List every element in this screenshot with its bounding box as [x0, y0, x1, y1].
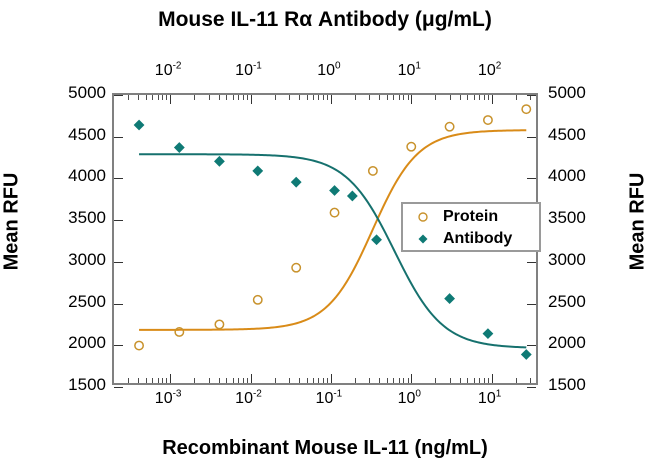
x-tick-bottom-major	[492, 374, 493, 383]
y-tick-label-right: 2500	[548, 292, 608, 312]
filled-diamond-icon	[403, 233, 443, 245]
x-tick-top-minor	[435, 95, 436, 100]
x-tick-top-minor	[488, 95, 489, 100]
x-tick-label-top: 100	[317, 62, 340, 80]
x-tick-bottom-minor	[313, 378, 314, 383]
x-tick-top-minor	[393, 95, 394, 100]
x-tick-bottom-minor	[318, 378, 319, 383]
x-tick-top-minor	[219, 95, 220, 100]
y-tick-label-right: 4000	[548, 166, 608, 186]
x-tick-top-minor	[474, 95, 475, 100]
right-y-axis-title: Mean RFU	[627, 162, 650, 282]
data-point-antibody	[444, 293, 455, 304]
x-tick-label-bottom: 10-2	[235, 390, 262, 408]
x-tick-top-minor	[138, 95, 139, 100]
x-tick-bottom-minor	[323, 378, 324, 383]
x-tick-bottom-minor	[530, 378, 531, 383]
x-tick-top-minor	[399, 95, 400, 100]
data-point-protein	[369, 167, 377, 175]
x-tick-top-major	[170, 95, 171, 104]
x-tick-bottom-minor	[158, 378, 159, 383]
x-tick-top-major	[331, 95, 332, 104]
x-tick-top-minor	[158, 95, 159, 100]
data-point-protein	[175, 328, 183, 336]
x-tick-bottom-minor	[403, 378, 404, 383]
x-tick-top-minor	[152, 95, 153, 100]
x-tick-top-major	[251, 95, 252, 104]
x-tick-bottom-minor	[233, 378, 234, 383]
data-point-antibody	[329, 185, 340, 196]
x-tick-top-minor	[226, 95, 227, 100]
top-axis-title: Mouse IL-11 Rα Antibody (μg/mL)	[0, 8, 650, 32]
y-tick-right	[527, 345, 536, 346]
data-point-protein	[330, 208, 338, 216]
y-tick-label-left: 3000	[48, 250, 106, 270]
x-tick-bottom-major	[411, 374, 412, 383]
data-point-antibody	[291, 177, 302, 188]
y-tick-label-left: 2000	[48, 333, 106, 353]
x-tick-top-minor	[313, 95, 314, 100]
x-tick-bottom-major	[170, 374, 171, 383]
x-tick-top-minor	[307, 95, 308, 100]
data-point-antibody	[252, 166, 263, 177]
y-tick-label-right: 3000	[548, 250, 608, 270]
x-tick-top-minor	[318, 95, 319, 100]
x-tick-bottom-minor	[460, 378, 461, 383]
y-tick-right	[527, 387, 536, 388]
y-tick-right	[527, 304, 536, 305]
x-tick-bottom-minor	[219, 378, 220, 383]
y-tick-label-right: 4500	[548, 125, 608, 145]
x-tick-bottom-minor	[516, 378, 517, 383]
x-tick-bottom-minor	[399, 378, 400, 383]
y-tick-label-left: 4500	[48, 125, 106, 145]
x-tick-bottom-minor	[226, 378, 227, 383]
data-point-protein	[445, 123, 453, 131]
y-tick-label-left: 4000	[48, 166, 106, 186]
x-tick-bottom-minor	[488, 378, 489, 383]
data-point-antibody	[521, 349, 532, 360]
x-tick-top-minor	[247, 95, 248, 100]
x-tick-top-minor	[369, 95, 370, 100]
x-tick-label-top: 102	[478, 62, 501, 80]
x-tick-top-minor	[162, 95, 163, 100]
x-tick-top-minor	[479, 95, 480, 100]
x-tick-bottom-minor	[238, 378, 239, 383]
x-tick-top-minor	[243, 95, 244, 100]
x-tick-bottom-minor	[327, 378, 328, 383]
x-tick-top-minor	[379, 95, 380, 100]
data-point-antibody	[214, 156, 225, 167]
y-tick-left	[114, 304, 123, 305]
data-point-protein	[215, 320, 223, 328]
x-tick-bottom-minor	[379, 378, 380, 383]
data-point-antibody	[371, 234, 382, 245]
x-tick-top-minor	[289, 95, 290, 100]
x-tick-top-minor	[166, 95, 167, 100]
y-tick-label-left: 5000	[48, 83, 106, 103]
x-tick-bottom-minor	[128, 378, 129, 383]
x-tick-bottom-minor	[162, 378, 163, 383]
chart-root: Mouse IL-11 Rα Antibody (μg/mL) Mean RFU…	[0, 0, 650, 476]
x-tick-top-minor	[209, 95, 210, 100]
y-tick-label-left: 3500	[48, 208, 106, 228]
x-tick-label-top: 101	[398, 62, 421, 80]
x-tick-top-minor	[484, 95, 485, 100]
x-tick-top-minor	[327, 95, 328, 100]
x-tick-bottom-minor	[275, 378, 276, 383]
x-tick-top-minor	[467, 95, 468, 100]
x-tick-top-minor	[233, 95, 234, 100]
data-point-antibody	[134, 120, 145, 131]
y-tick-left	[114, 345, 123, 346]
x-tick-bottom-minor	[209, 378, 210, 383]
x-tick-bottom-minor	[307, 378, 308, 383]
x-tick-label-bottom: 100	[398, 390, 421, 408]
y-tick-left	[114, 178, 123, 179]
y-tick-label-left: 1500	[48, 375, 106, 395]
x-tick-top-minor	[450, 95, 451, 100]
x-tick-bottom-minor	[387, 378, 388, 383]
x-tick-top-minor	[238, 95, 239, 100]
x-tick-bottom-minor	[138, 378, 139, 383]
x-tick-bottom-major	[251, 374, 252, 383]
data-point-protein	[135, 341, 143, 349]
y-tick-right	[527, 262, 536, 263]
left-y-axis-title: Mean RFU	[1, 162, 24, 282]
x-tick-label-bottom: 101	[478, 390, 501, 408]
y-tick-label-right: 2000	[548, 333, 608, 353]
x-tick-bottom-minor	[369, 378, 370, 383]
x-tick-bottom-minor	[408, 378, 409, 383]
x-tick-top-minor	[194, 95, 195, 100]
data-point-antibody	[483, 328, 494, 339]
x-tick-bottom-minor	[484, 378, 485, 383]
x-tick-top-minor	[403, 95, 404, 100]
x-tick-bottom-minor	[243, 378, 244, 383]
x-tick-top-major	[492, 95, 493, 104]
x-tick-top-minor	[516, 95, 517, 100]
data-point-protein	[522, 105, 530, 113]
y-tick-label-right: 3500	[548, 208, 608, 228]
x-tick-bottom-minor	[435, 378, 436, 383]
x-tick-label-top: 10-2	[155, 62, 182, 80]
x-tick-bottom-minor	[152, 378, 153, 383]
x-tick-bottom-minor	[166, 378, 167, 383]
data-point-protein	[292, 264, 300, 272]
x-tick-bottom-minor	[467, 378, 468, 383]
legend-item-antibody[interactable]: Antibody	[403, 227, 539, 250]
data-point-antibody	[174, 142, 185, 153]
x-tick-bottom-minor	[393, 378, 394, 383]
x-tick-bottom-minor	[450, 378, 451, 383]
y-tick-left	[114, 262, 123, 263]
x-tick-top-minor	[355, 95, 356, 100]
x-tick-top-minor	[387, 95, 388, 100]
x-tick-label-bottom: 10-1	[316, 390, 343, 408]
legend-box: Protein Antibody	[401, 202, 541, 252]
y-tick-right	[527, 95, 536, 96]
x-tick-bottom-minor	[479, 378, 480, 383]
x-tick-top-major	[411, 95, 412, 104]
y-tick-left	[114, 137, 123, 138]
data-point-protein	[407, 143, 415, 151]
y-tick-label-right: 1500	[548, 375, 608, 395]
legend-label-antibody: Antibody	[443, 230, 512, 248]
x-tick-top-minor	[408, 95, 409, 100]
y-tick-right	[527, 137, 536, 138]
data-point-protein	[254, 296, 262, 304]
y-tick-left	[114, 95, 123, 96]
x-tick-bottom-major	[331, 374, 332, 383]
legend-label-protein: Protein	[443, 208, 498, 226]
data-point-antibody	[347, 191, 358, 202]
open-circle-icon	[403, 211, 443, 223]
legend-item-protein[interactable]: Protein	[403, 205, 539, 228]
x-tick-bottom-minor	[299, 378, 300, 383]
x-tick-bottom-minor	[474, 378, 475, 383]
x-tick-top-minor	[128, 95, 129, 100]
y-tick-right	[527, 178, 536, 179]
x-tick-bottom-minor	[247, 378, 248, 383]
y-tick-left	[114, 220, 123, 221]
data-point-protein	[484, 116, 492, 124]
bottom-axis-title: Recombinant Mouse IL-11 (ng/mL)	[0, 437, 650, 460]
x-tick-top-minor	[275, 95, 276, 100]
x-tick-label-top: 10-1	[235, 62, 262, 80]
x-tick-top-minor	[299, 95, 300, 100]
y-tick-label-right: 5000	[548, 83, 608, 103]
x-tick-top-minor	[146, 95, 147, 100]
x-tick-bottom-minor	[355, 378, 356, 383]
x-tick-top-minor	[323, 95, 324, 100]
x-tick-label-bottom: 10-3	[155, 390, 182, 408]
x-tick-top-minor	[460, 95, 461, 100]
x-tick-bottom-minor	[146, 378, 147, 383]
x-tick-bottom-minor	[289, 378, 290, 383]
x-tick-bottom-minor	[194, 378, 195, 383]
y-tick-left	[114, 387, 123, 388]
y-tick-label-left: 2500	[48, 292, 106, 312]
